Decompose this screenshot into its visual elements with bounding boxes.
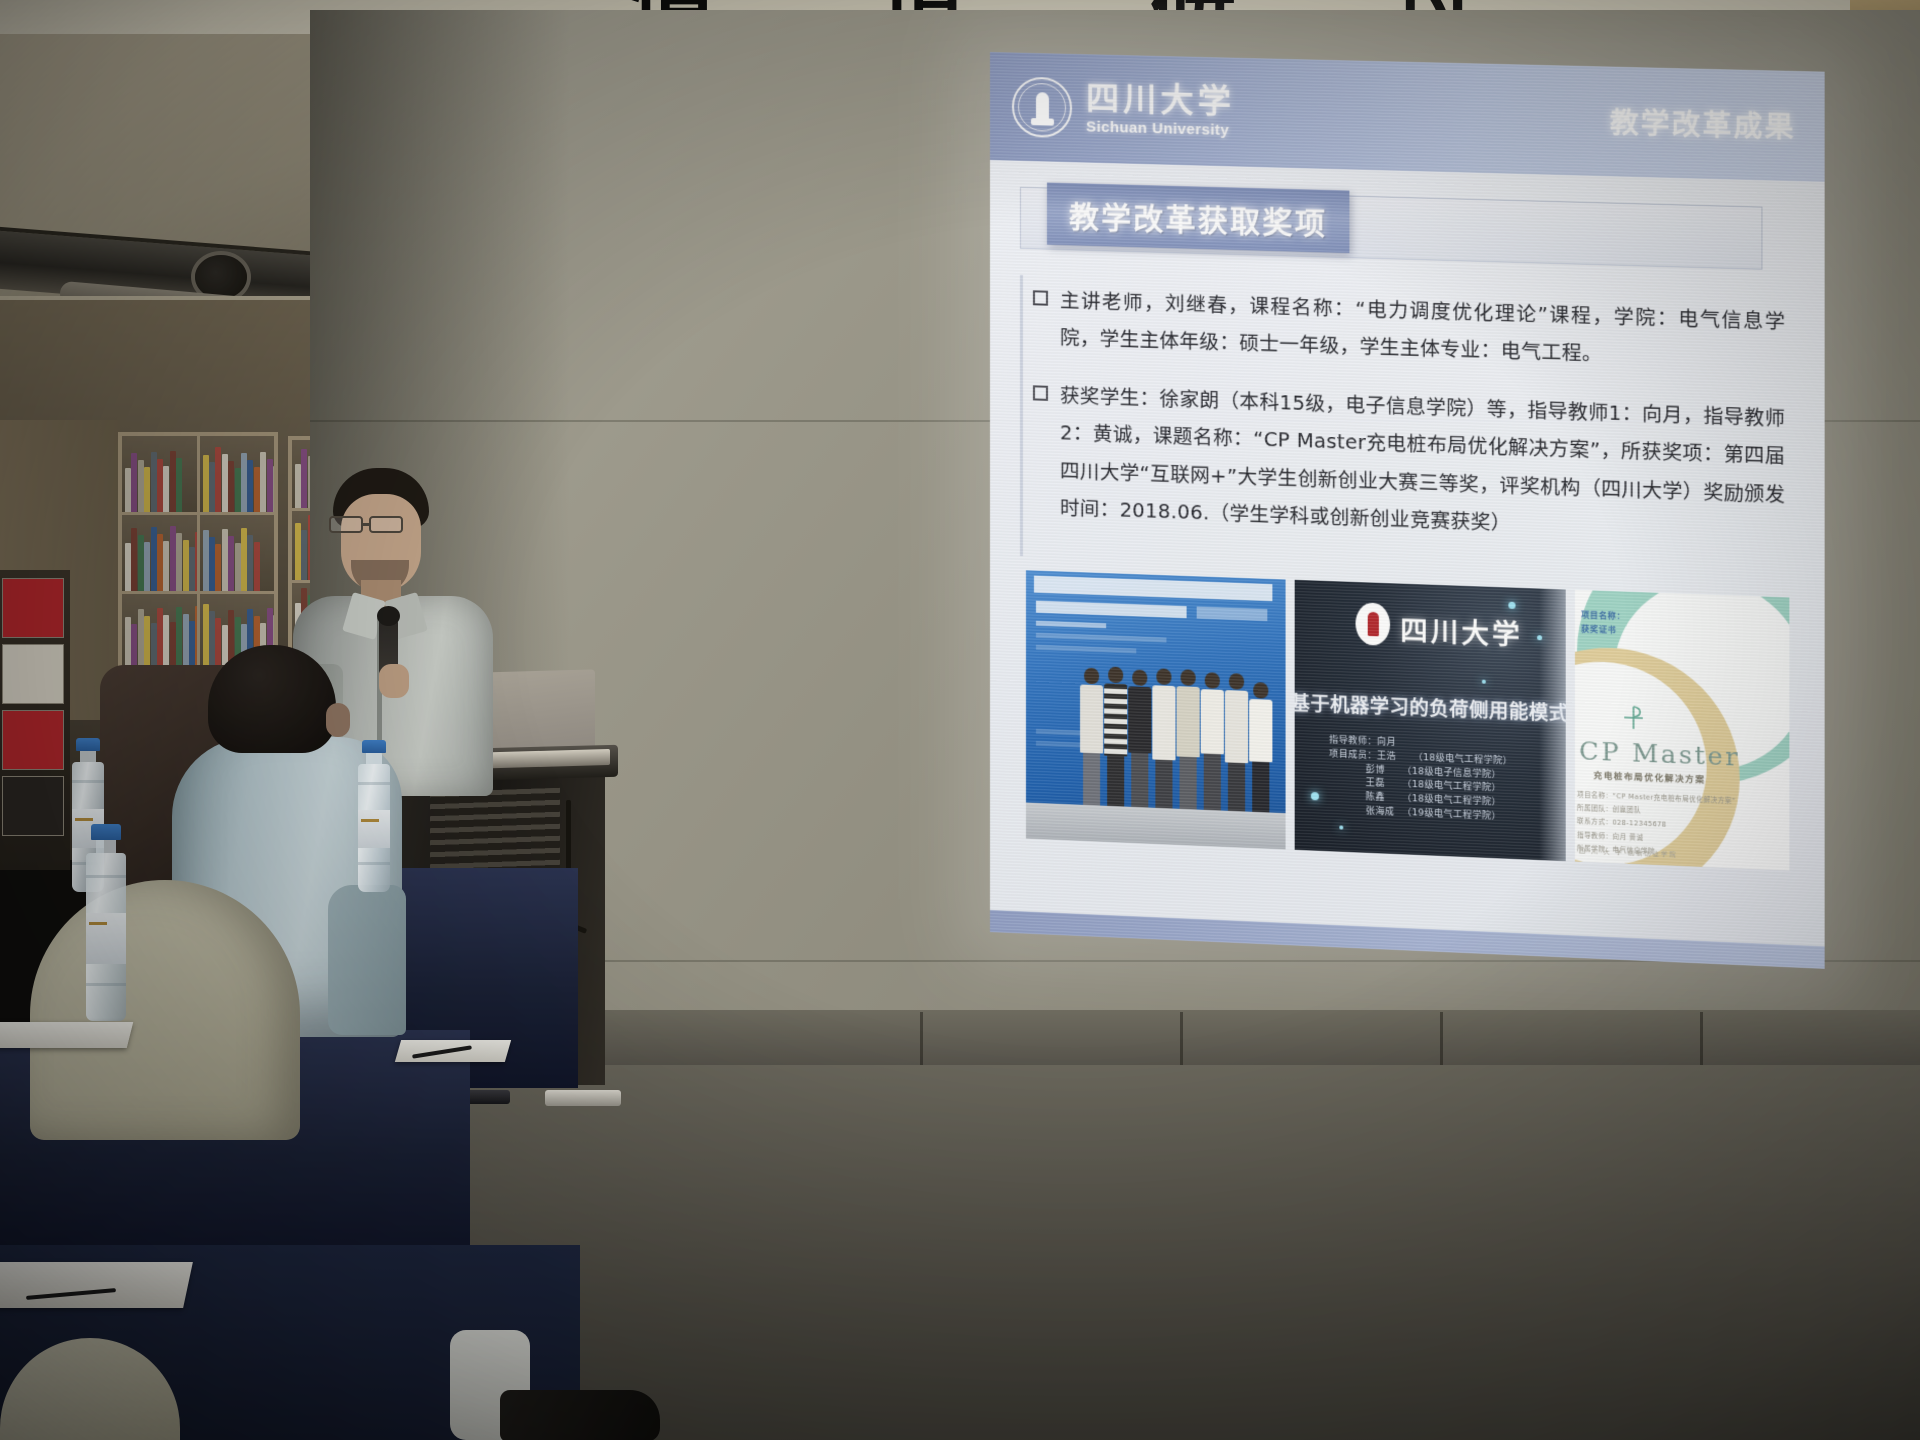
book-spine [209, 462, 215, 512]
book-spine [273, 466, 274, 512]
book-spine [254, 467, 260, 512]
project-title-poster: 四川大学 基于机器学习的负荷侧用能模式深度挖掘 指导教师：向月 项目成员：王浩（… [1295, 579, 1566, 860]
meta-value: 张海成 [1366, 806, 1403, 822]
book-spine [209, 537, 215, 591]
bookshelf-cell [122, 515, 197, 591]
poster-university-name: 四川大学 [1400, 608, 1522, 652]
bullet-item: 主讲老师，刘继春，课程名称：“电力调度优化理论”课程，学院：电气信息学院，学生主… [1033, 281, 1785, 379]
bullet-text: 获奖学生：徐家朗（本科15级，电子信息学院）等，指导教师1：向月，指导教师2：黄… [1060, 377, 1785, 552]
book-spine [183, 540, 189, 591]
book-spine [203, 455, 209, 512]
book-spine [138, 535, 144, 591]
university-name-en: Sichuan University [1086, 120, 1235, 140]
book-spine [222, 529, 228, 591]
meta-value: 彭博 [1366, 763, 1403, 779]
stage-brace [1180, 1012, 1183, 1070]
book-spine [151, 452, 157, 512]
attendee-hair [208, 645, 336, 753]
bottle-neck [80, 751, 96, 762]
bottle-cap [362, 740, 386, 753]
bottle-neck [366, 753, 382, 764]
bottle-body [358, 764, 390, 892]
university-name-block: 四川大学 Sichuan University [1086, 81, 1235, 139]
book-spine [125, 468, 131, 512]
book-spine [235, 468, 241, 512]
stage-brace [920, 1012, 923, 1070]
book-spine [254, 542, 260, 591]
projected-slide: 四川大学 Sichuan University 教学改革成果 教学改革获取奖项 … [990, 52, 1825, 969]
checkbox-marker-icon [1033, 385, 1048, 400]
book-spine [144, 542, 150, 591]
book-spine [163, 541, 169, 591]
phone-device [545, 1090, 621, 1106]
sichuan-university-seal-icon [1012, 77, 1072, 139]
book-spine [215, 447, 221, 512]
book-spine [228, 536, 234, 591]
attendee-ear [326, 703, 350, 737]
meta-value: 陈鑫 [1366, 792, 1403, 808]
glasses-bridge [363, 523, 371, 526]
cp-master-logo-icon [1620, 703, 1647, 732]
book-spine [131, 624, 137, 669]
checkbox-marker-icon [1033, 290, 1048, 305]
university-name-cn: 四川大学 [1086, 81, 1235, 119]
slide-image-row: 四川大学 基于机器学习的负荷侧用能模式深度挖掘 指导教师：向月 项目成员：王浩（… [1020, 570, 1794, 871]
book-spine [138, 460, 144, 512]
slide-title-fill: 教学改革获取奖项 [1047, 183, 1349, 254]
book-spine [157, 459, 163, 512]
book-spine [131, 453, 137, 512]
certificate-top-lines: 项目名称： 获奖证书 [1581, 608, 1625, 639]
brochure-item [2, 776, 64, 836]
slide-content-box: 主讲老师，刘继春，课程名称：“电力调度优化理论”课程，学院：电气信息学院，学生主… [1020, 275, 1794, 583]
sichuan-university-logo-icon [1356, 602, 1391, 646]
bullet-item: 获奖学生：徐家朗（本科15级，电子信息学院）等，指导教师1：向月，指导教师2：黄… [1033, 376, 1785, 552]
book-spine [241, 453, 247, 512]
book-spine [260, 452, 266, 512]
book-spine [176, 458, 182, 512]
stage-brace [1440, 1012, 1443, 1070]
bookshelf-cell [200, 436, 275, 512]
meta-value: 向月 [1377, 736, 1414, 752]
poster-meta-rows: 指导教师：向月 项目成员：王浩（18级电气工程学院） 彭博（18级电子信息学院）… [1329, 734, 1512, 826]
shoe [500, 1390, 660, 1440]
chair [30, 880, 300, 1140]
slide-title: 教学改革获取奖项 [1069, 192, 1327, 243]
book-spine [222, 454, 228, 512]
book-spine [247, 535, 253, 591]
team-group-photo [1026, 570, 1286, 849]
certificate-top-line-2: 获奖证书 [1581, 623, 1625, 639]
presentation-photo-scene: 情 境 研 讨 四川大学 Sichuan University [0, 0, 1920, 1440]
brochure-rack [0, 570, 70, 870]
meta-value: 王浩 [1377, 750, 1414, 766]
attendee-sleeve [328, 885, 406, 1035]
book-spine [176, 533, 182, 591]
brochure-item [2, 710, 64, 770]
brochure-item [2, 644, 64, 704]
book-spine [125, 543, 131, 591]
certificate-top-line-1: 项目名称： [1581, 608, 1625, 624]
brochure-item [2, 578, 64, 638]
book-spine [247, 460, 253, 512]
book-spine [131, 528, 137, 591]
bullet-text: 主讲老师，刘继春，课程名称：“电力调度优化理论”课程，学院：电气信息学院，学生主… [1060, 282, 1785, 379]
book-spine [163, 466, 169, 512]
meta-value: 王磊 [1366, 778, 1403, 794]
glasses-icon [329, 516, 363, 533]
paper-sheet [0, 1022, 133, 1048]
bookshelf-cell [200, 515, 275, 591]
paper-sheet [0, 1262, 193, 1308]
bottle-cap [76, 738, 100, 751]
stage-brace [1700, 1012, 1703, 1070]
slide-title-banner: 教学改革获取奖项 [1020, 187, 1762, 270]
cp-master-certificate: 项目名称： 获奖证书 CP Master 充电桩布局优化解决方案 项目名称：“C… [1575, 589, 1789, 870]
bottle-neck [96, 840, 116, 853]
meta-label: 项目成员： [1329, 748, 1377, 764]
book-spine [203, 530, 209, 591]
microphone-head-icon [377, 606, 400, 626]
book-spine [125, 617, 131, 669]
book-spine [157, 534, 163, 591]
book-spine [151, 527, 157, 591]
book-spine [235, 543, 241, 591]
book-spine [189, 547, 195, 591]
slide-section-title: 教学改革成果 [1610, 101, 1802, 146]
bottle-cap [91, 824, 121, 840]
bottle-label [86, 913, 126, 963]
book-spine [144, 467, 150, 512]
bottle-body [86, 853, 126, 1021]
water-bottle [86, 824, 126, 1021]
book-spine [215, 544, 221, 591]
glasses-icon [369, 516, 403, 533]
bookshelf-cell [122, 436, 197, 512]
bottle-label [358, 810, 390, 848]
floor [380, 1065, 1920, 1440]
book-spine [195, 532, 196, 591]
book-spine [170, 451, 176, 512]
book-spine [228, 461, 234, 512]
slide-body: 教学改革获取奖项 主讲老师，刘继春，课程名称：“电力调度优化理论”课程，学院：电… [990, 160, 1825, 872]
water-bottle [358, 740, 390, 892]
book-spine [241, 528, 247, 591]
group-photo-people [1080, 656, 1233, 811]
book-spine [170, 526, 176, 591]
stage-base [560, 1010, 1920, 1070]
book-spine [267, 459, 273, 512]
